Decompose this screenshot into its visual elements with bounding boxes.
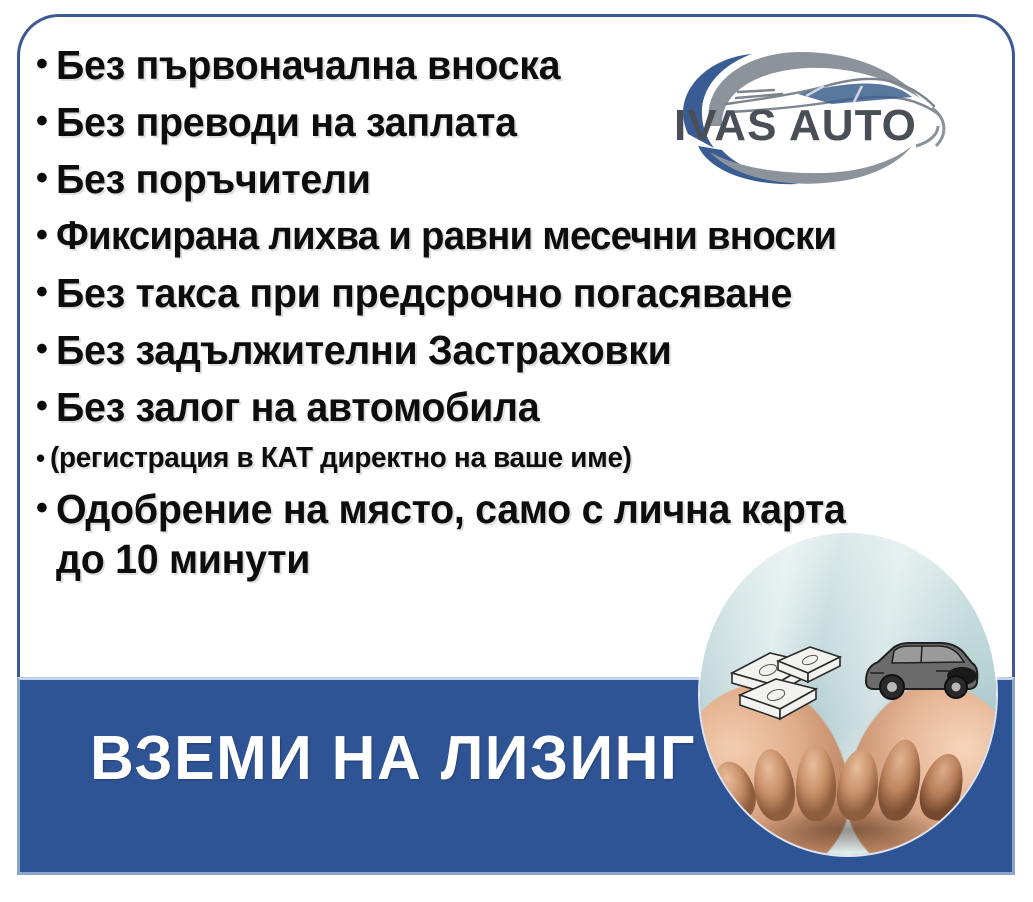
car-swoosh-logo-icon: IVAS AUTO xyxy=(648,42,978,187)
list-item: • Без залог на автомобила xyxy=(36,382,996,432)
ivas-auto-logo: IVAS AUTO xyxy=(648,42,978,187)
bullet-icon: • xyxy=(36,40,56,88)
list-item-label: Без такса при предсрочно погасяване xyxy=(56,268,958,318)
list-item: • Фиксирана лихва и равни месечни вноски xyxy=(36,211,996,261)
finger xyxy=(707,757,762,826)
finger xyxy=(873,736,927,824)
bullet-icon: • xyxy=(36,382,56,430)
list-item-label: Без задължителни Застраховки xyxy=(56,325,958,375)
logo-text: IVAS AUTO xyxy=(674,101,917,150)
fingers-group xyxy=(706,737,990,821)
list-item: • (регистрация в КАТ директно на ваше им… xyxy=(36,439,996,477)
finger xyxy=(796,745,836,821)
cta-headline: ВЗЕМИ НА ЛИЗИНГ xyxy=(90,724,696,794)
bullet-icon: • xyxy=(36,211,56,259)
finger xyxy=(913,749,970,825)
list-item-label: Без залог на автомобила xyxy=(56,382,958,432)
bullet-icon: • xyxy=(36,484,56,532)
finger xyxy=(833,747,883,824)
bullet-icon: • xyxy=(36,97,56,145)
list-item: • Без задължителни Застраховки xyxy=(36,325,996,375)
hands-money-car-photo xyxy=(700,533,996,855)
bullet-icon: • xyxy=(36,325,56,373)
bullet-icon: • xyxy=(36,268,56,316)
finger xyxy=(749,747,799,824)
promo-poster: • Без първоначална вноска • Без преводи … xyxy=(0,0,1033,902)
list-item: • Без такса при предсрочно погасяване xyxy=(36,268,996,318)
bullet-icon: • xyxy=(36,154,56,202)
list-item-label: (регистрация в КАТ директно на ваше име) xyxy=(50,439,958,477)
car-icon xyxy=(858,633,982,705)
money-stacks-icon xyxy=(726,639,844,729)
bullet-icon: • xyxy=(36,439,50,477)
list-item-label: Фиксирана лихва и равни месечни вноски xyxy=(56,211,958,261)
